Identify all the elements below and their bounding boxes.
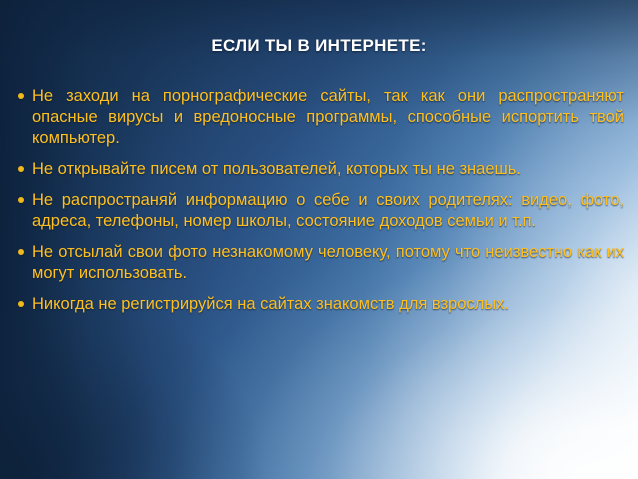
presentation-slide: ЕСЛИ ТЫ В ИНТЕРНЕТЕ: Не заходи на порног… xyxy=(0,0,638,479)
list-item: Не распространяй информацию о себе и сво… xyxy=(10,190,628,232)
bullet-text: Не распространяй информацию о себе и сво… xyxy=(32,190,628,232)
slide-content: ЕСЛИ ТЫ В ИНТЕРНЕТЕ: Не заходи на порног… xyxy=(0,0,638,479)
bullet-dot-icon xyxy=(10,294,32,307)
bullet-text: Не открывайте писем от пользователей, ко… xyxy=(32,159,628,180)
list-item: Не заходи на порнографические сайты, так… xyxy=(10,86,628,149)
bullet-dot-icon xyxy=(10,242,32,255)
bullet-dot-icon xyxy=(10,159,32,172)
bullet-text: Не заходи на порнографические сайты, так… xyxy=(32,86,628,149)
bullet-text: Никогда не регистрируйся на сайтах знако… xyxy=(32,294,628,315)
list-item: Никогда не регистрируйся на сайтах знако… xyxy=(10,294,628,315)
list-item: Не отсылай свои фото незнакомому человек… xyxy=(10,242,628,284)
slide-title: ЕСЛИ ТЫ В ИНТЕРНЕТЕ: xyxy=(0,36,638,56)
bullet-text: Не отсылай свои фото незнакомому человек… xyxy=(32,242,628,284)
list-item: Не открывайте писем от пользователей, ко… xyxy=(10,159,628,180)
bullet-list: Не заходи на порнографические сайты, так… xyxy=(10,86,628,325)
bullet-dot-icon xyxy=(10,190,32,203)
bullet-dot-icon xyxy=(10,86,32,99)
